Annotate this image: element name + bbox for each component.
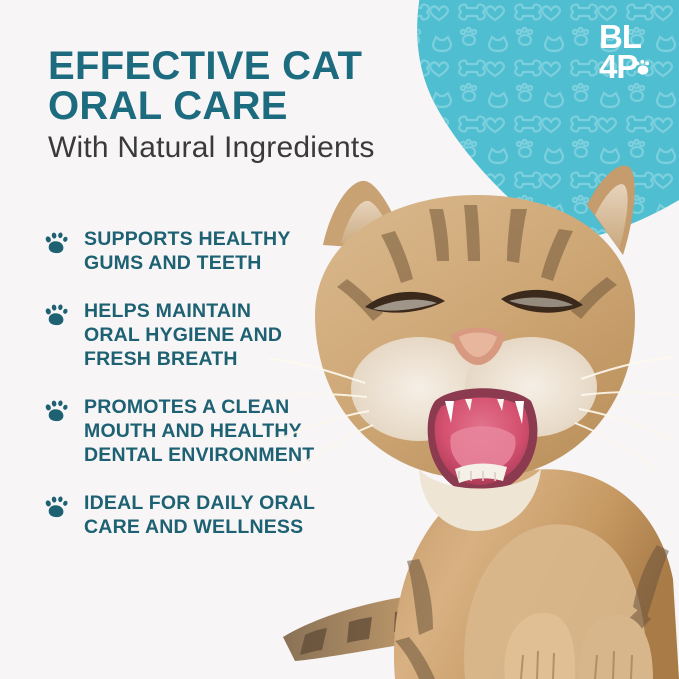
benefit-text-line: PROMOTES A CLEAN: [84, 396, 314, 420]
list-item-label: PROMOTES A CLEAN MOUTH AND HEALTHY DENTA…: [84, 396, 314, 468]
benefit-text-line: GUMS AND TEETH: [84, 252, 291, 276]
paw-bullet-icon: [42, 494, 70, 522]
benefit-text-line: DENTAL ENVIRONMENT: [84, 444, 314, 468]
benefit-text-line: SUPPORTS HEALTHY: [84, 228, 291, 252]
paw-bullet-icon: [42, 398, 70, 426]
cat-tail: [283, 591, 521, 661]
logo-paw-icon: [636, 60, 650, 75]
benefit-text-line: IDEAL FOR DAILY ORAL: [84, 492, 315, 516]
list-item: HELPS MAINTAIN ORAL HYGIENE AND FRESH BR…: [42, 300, 382, 372]
list-item: IDEAL FOR DAILY ORAL CARE AND WELLNESS: [42, 492, 382, 540]
list-item: SUPPORTS HEALTHY GUMS AND TEETH: [42, 228, 382, 276]
benefit-text-line: HELPS MAINTAIN: [84, 300, 282, 324]
list-item-label: HELPS MAINTAIN ORAL HYGIENE AND FRESH BR…: [84, 300, 282, 372]
benefits-list: SUPPORTS HEALTHY GUMS AND TEETH HELPS MA…: [42, 228, 382, 540]
benefit-text-line: MOUTH AND HEALTHY: [84, 420, 314, 444]
subtitle: With Natural Ingredients: [48, 131, 375, 164]
paw-bullet-icon: [42, 302, 70, 330]
benefit-text-line: FRESH BREATH: [84, 348, 282, 372]
list-item: PROMOTES A CLEAN MOUTH AND HEALTHY DENTA…: [42, 396, 382, 468]
cat-body: [394, 469, 679, 679]
paw-bullet-icon: [42, 230, 70, 258]
benefit-text-line: CARE AND WELLNESS: [84, 516, 315, 540]
list-item-label: IDEAL FOR DAILY ORAL CARE AND WELLNESS: [84, 492, 315, 540]
headline-line-2: ORAL CARE: [48, 87, 418, 127]
headline-line-1: EFFECTIVE CAT: [48, 47, 418, 87]
brand-logo: BL 4P: [599, 20, 661, 88]
list-item-label: SUPPORTS HEALTHY GUMS AND TEETH: [84, 228, 291, 276]
benefit-text-line: ORAL HYGIENE AND: [84, 324, 282, 348]
product-infographic: BL 4P EFFECTIVE CAT ORAL CARE With Natur…: [0, 0, 679, 679]
cat-eyes: [365, 290, 583, 313]
cat-mouth: [428, 388, 538, 495]
page-title: EFFECTIVE CAT ORAL CARE: [48, 47, 418, 126]
